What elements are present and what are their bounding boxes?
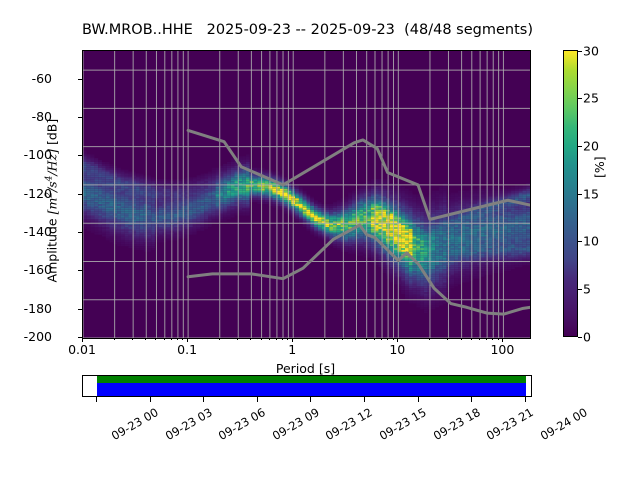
timeline-tick-label: 09-23 00 (109, 405, 161, 443)
colorbar-tick-label: 5 (583, 282, 591, 297)
colorbar-tick-mark (578, 98, 582, 99)
y-tick-label: -160 (0, 264, 52, 277)
x-tick-mark (492, 338, 493, 340)
x-tick-label: 10 (389, 342, 405, 357)
coverage-band-data (97, 383, 526, 396)
x-tick-mark (145, 338, 146, 340)
x-tick-mark (132, 338, 133, 340)
timeline-tick-label: 09-23 06 (216, 405, 268, 443)
x-tick-mark (429, 338, 430, 340)
x-tick-mark (276, 338, 277, 340)
colorbar-tick-mark (578, 337, 582, 338)
x-tick-mark (282, 338, 283, 340)
timeline-tick-mark (525, 397, 526, 402)
colorbar-tick-mark (578, 241, 582, 242)
y-tick-label: -80 (0, 111, 52, 124)
x-tick-mark (324, 338, 325, 340)
y-tick-label: -60 (0, 73, 52, 86)
colorbar-tick-label: 30 (583, 44, 599, 59)
colorbar-tick-label: 15 (583, 187, 599, 202)
x-tick-mark (219, 338, 220, 340)
colorbar-tick-label: 25 (583, 91, 599, 106)
x-tick-mark (261, 338, 262, 340)
y-tick-label: -180 (0, 303, 52, 316)
x-tick-mark (381, 338, 382, 340)
x-tick-mark (498, 338, 499, 340)
colorbar-tick-label: 0 (583, 330, 591, 345)
colorbar-tick-mark (578, 289, 582, 290)
x-tick-label: 1 (288, 342, 296, 357)
timeline-tick-label: 09-23 18 (431, 405, 483, 443)
x-tick-mark (164, 338, 165, 340)
x-tick-mark (387, 338, 388, 340)
timeline-tick-mark (96, 397, 97, 402)
x-tick-label: 0.1 (177, 342, 197, 357)
y-tick-label: -100 (0, 149, 52, 162)
x-tick-mark (447, 338, 448, 340)
ppsd-figure: BW.MROB..HHE 2025-09-23 -- 2025-09-23 (4… (0, 0, 640, 480)
y-tick-label: -140 (0, 226, 52, 239)
coverage-band-gaps (97, 376, 526, 383)
x-tick-mark (155, 338, 156, 340)
colorbar-tick-mark (578, 194, 582, 195)
x-tick-mark (471, 338, 472, 340)
timeline-tick-mark (471, 397, 472, 402)
page-title: BW.MROB..HHE 2025-09-23 -- 2025-09-23 (4… (0, 22, 615, 38)
x-tick-mark (374, 338, 375, 340)
colorbar-tick-mark (578, 146, 582, 147)
colorbar-tick-label: 20 (583, 139, 599, 154)
timeline-tick-mark (203, 397, 204, 402)
x-tick-mark (479, 338, 480, 340)
timeline-tick-label: 09-23 09 (270, 405, 322, 443)
x-tick-mark (342, 338, 343, 340)
timeline-tick-mark (364, 397, 365, 402)
x-tick-mark (393, 338, 394, 340)
colorbar-tick-mark (578, 51, 582, 52)
timeline-tick-mark (257, 397, 258, 402)
timeline-tick-mark (310, 397, 311, 402)
timeline-tick-label: 09-23 15 (377, 405, 429, 443)
x-tick-mark (461, 338, 462, 340)
timeline-tick-mark (418, 397, 419, 402)
x-tick-mark (177, 338, 178, 340)
x-tick-mark (287, 338, 288, 340)
x-tick-mark (366, 338, 367, 340)
ppsd-canvas (83, 51, 530, 338)
timeline-tick-label: 09-23 12 (323, 405, 375, 443)
y-tick-label: -200 (0, 331, 52, 344)
colorbar[interactable] (563, 50, 578, 337)
colorbar-tick-label: 10 (583, 234, 599, 249)
x-tick-mark (355, 338, 356, 340)
x-tick-mark (171, 338, 172, 340)
x-tick-mark (114, 338, 115, 340)
timeline-tick-label: 09-23 03 (162, 405, 214, 443)
timeline-tick-mark (150, 397, 151, 402)
colorbar-label: [%] (592, 156, 607, 178)
ppsd-histogram-plot[interactable] (82, 50, 531, 339)
x-tick-mark (269, 338, 270, 340)
x-tick-mark (486, 338, 487, 340)
timeline-tick-label: 09-23 21 (484, 405, 536, 443)
x-axis-label: Period [s] (82, 361, 529, 376)
x-tick-label: 0.01 (68, 342, 96, 357)
x-tick-label: 100 (490, 342, 514, 357)
x-tick-mark (237, 338, 238, 340)
y-tick-label: -120 (0, 188, 52, 201)
x-tick-mark (250, 338, 251, 340)
timeline-tick-label: 09-24 00 (538, 405, 590, 443)
data-coverage-timeline[interactable] (82, 375, 532, 397)
x-tick-mark (182, 338, 183, 340)
